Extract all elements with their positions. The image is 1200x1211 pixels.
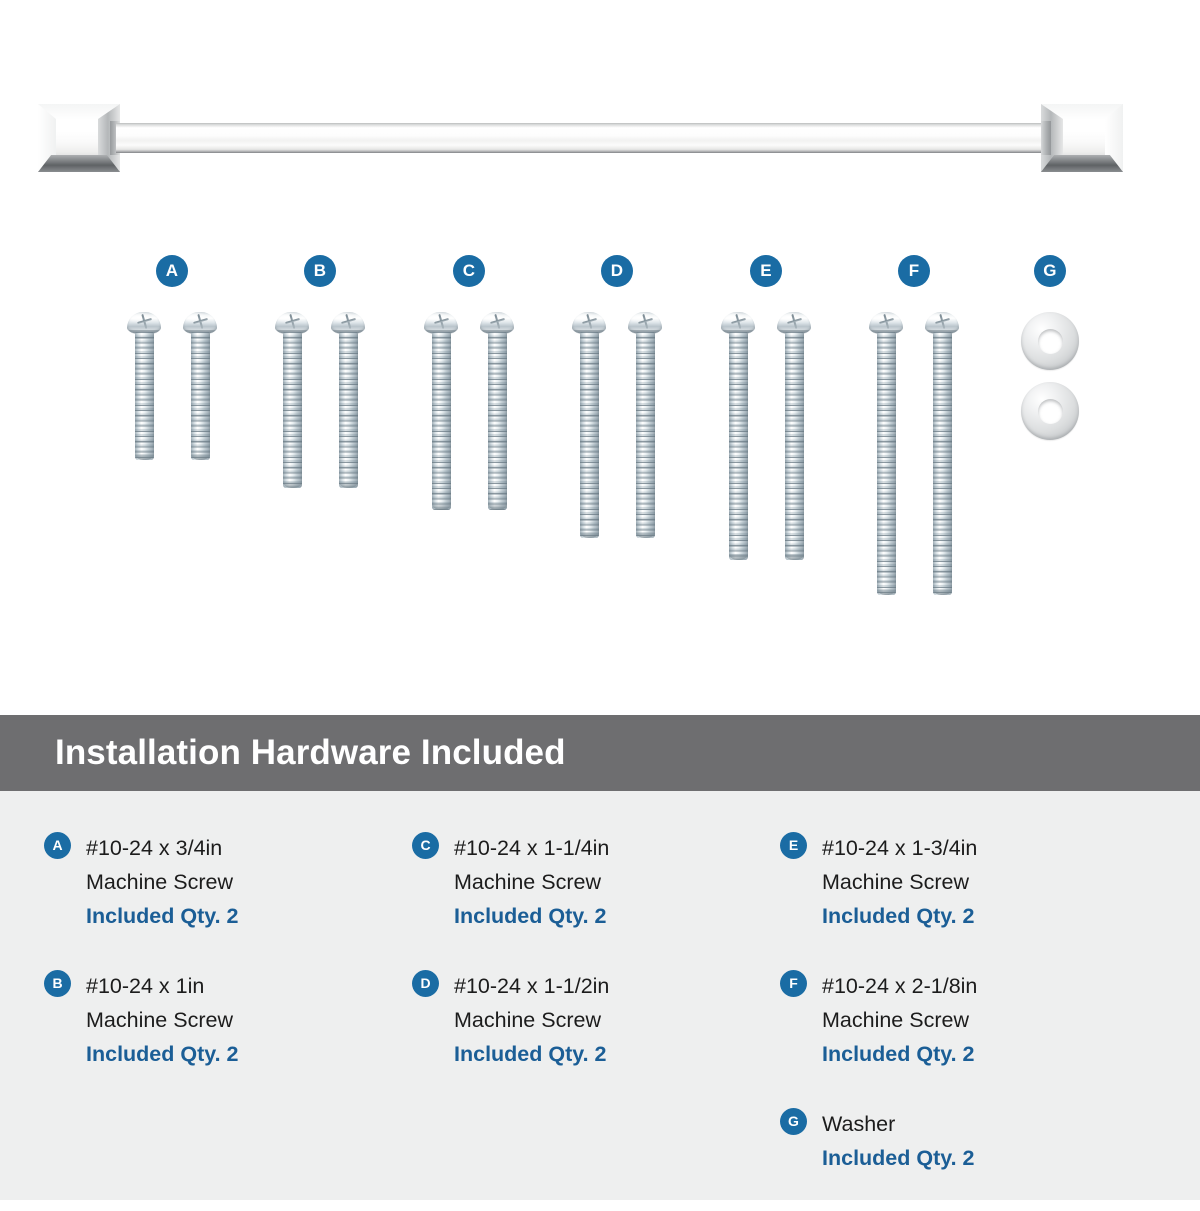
phillips-drive-icon — [931, 311, 952, 332]
washer-1 — [1021, 312, 1079, 370]
towel-bar-rail — [116, 123, 1061, 153]
legend-column-2: C #10-24 x 1-1/4in Machine Screw Include… — [412, 831, 782, 1107]
screw-f-2 — [925, 312, 959, 595]
legend-item-e: E #10-24 x 1-3/4in Machine Screw Include… — [780, 831, 1150, 933]
legend-type: Machine Screw — [86, 1003, 414, 1037]
washer-hole — [1038, 329, 1063, 354]
towel-bar-product — [38, 104, 1123, 172]
threaded-shaft — [432, 332, 451, 510]
screw-pair-e — [691, 312, 841, 560]
legend-column-3: E #10-24 x 1-3/4in Machine Screw Include… — [780, 831, 1150, 1211]
screw-c-2 — [480, 312, 514, 510]
phillips-drive-icon — [189, 311, 210, 332]
hardware-callout-row: A B — [0, 255, 1200, 675]
screw-b-1 — [275, 312, 309, 488]
screw-b-2 — [331, 312, 365, 488]
screw-e-1 — [721, 312, 755, 560]
legend-spec: #10-24 x 2-1/8in — [822, 969, 1150, 1003]
truss-head — [424, 312, 458, 334]
product-illustration-area: A B — [0, 0, 1200, 715]
legend-spec: Washer — [822, 1107, 1150, 1141]
truss-head — [777, 312, 811, 334]
screw-pair-f — [839, 312, 989, 595]
callout-badge-c: C — [453, 255, 485, 287]
screw-e-2 — [777, 312, 811, 560]
washer-pair-g — [1021, 312, 1079, 440]
phillips-drive-icon — [783, 311, 804, 332]
truss-head — [628, 312, 662, 334]
towel-bar-right-bracket — [1041, 104, 1123, 172]
threaded-shaft — [191, 332, 210, 460]
threaded-shaft — [729, 332, 748, 560]
phillips-drive-icon — [486, 311, 507, 332]
legend-badge-b: B — [44, 970, 71, 997]
legend-item-a: A #10-24 x 3/4in Machine Screw Included … — [44, 831, 414, 933]
legend-qty: Included Qty. 2 — [86, 1037, 414, 1071]
legend-qty: Included Qty. 2 — [822, 1141, 1150, 1175]
legend-column-1: A #10-24 x 3/4in Machine Screw Included … — [44, 831, 414, 1107]
callout-badge-d: D — [601, 255, 633, 287]
truss-head — [925, 312, 959, 334]
phillips-drive-icon — [578, 311, 599, 332]
legend-spec: #10-24 x 1-1/2in — [454, 969, 782, 1003]
phillips-drive-icon — [281, 311, 302, 332]
threaded-shaft — [135, 332, 154, 460]
threaded-shaft — [488, 332, 507, 510]
washer-2 — [1021, 382, 1079, 440]
legend-badge-d: D — [412, 970, 439, 997]
legend-qty: Included Qty. 2 — [86, 899, 414, 933]
screw-pair-b — [245, 312, 395, 488]
legend-item-c: C #10-24 x 1-1/4in Machine Screw Include… — [412, 831, 782, 933]
legend-type: Machine Screw — [822, 865, 1150, 899]
phillips-drive-icon — [133, 311, 154, 332]
threaded-shaft — [933, 332, 952, 595]
screw-a-1 — [127, 312, 161, 460]
screw-a-2 — [183, 312, 217, 460]
callout-badge-g: G — [1034, 255, 1066, 287]
truss-head — [127, 312, 161, 334]
truss-head — [331, 312, 365, 334]
threaded-shaft — [877, 332, 896, 595]
legend-type: Machine Screw — [86, 865, 414, 899]
legend-badge-g: G — [780, 1108, 807, 1135]
bracket-bottom-bevel — [38, 155, 120, 172]
threaded-shaft — [580, 332, 599, 538]
legend-badge-a: A — [44, 832, 71, 859]
bracket-post-shadow — [1041, 121, 1051, 155]
legend-qty: Included Qty. 2 — [822, 899, 1150, 933]
callout-badge-f: F — [898, 255, 930, 287]
screw-pair-c — [394, 312, 544, 510]
bracket-bottom-bevel — [1041, 155, 1123, 172]
washer-hole — [1038, 399, 1063, 424]
truss-head — [480, 312, 514, 334]
legend-spec: #10-24 x 1in — [86, 969, 414, 1003]
legend-type: Machine Screw — [822, 1003, 1150, 1037]
screw-pair-a — [97, 312, 247, 460]
screw-d-2 — [628, 312, 662, 538]
legend-item-g: G Washer Included Qty. 2 — [780, 1107, 1150, 1175]
truss-head — [183, 312, 217, 334]
truss-head — [869, 312, 903, 334]
legend-badge-f: F — [780, 970, 807, 997]
legend-badge-c: C — [412, 832, 439, 859]
hardware-legend-panel: A #10-24 x 3/4in Machine Screw Included … — [0, 791, 1200, 1200]
legend-spec: #10-24 x 1-1/4in — [454, 831, 782, 865]
threaded-shaft — [785, 332, 804, 560]
legend-type: Machine Screw — [454, 1003, 782, 1037]
legend-spec: #10-24 x 1-3/4in — [822, 831, 1150, 865]
screw-d-1 — [572, 312, 606, 538]
screw-c-1 — [424, 312, 458, 510]
truss-head — [572, 312, 606, 334]
callout-badge-e: E — [750, 255, 782, 287]
legend-qty: Included Qty. 2 — [454, 1037, 782, 1071]
towel-bar-left-bracket — [38, 104, 120, 172]
screw-f-1 — [869, 312, 903, 595]
truss-head — [721, 312, 755, 334]
threaded-shaft — [339, 332, 358, 488]
threaded-shaft — [283, 332, 302, 488]
legend-item-d: D #10-24 x 1-1/2in Machine Screw Include… — [412, 969, 782, 1071]
legend-type: Machine Screw — [454, 865, 782, 899]
screw-pair-d — [542, 312, 692, 538]
threaded-shaft — [636, 332, 655, 538]
truss-head — [275, 312, 309, 334]
legend-badge-e: E — [780, 832, 807, 859]
legend-item-f: F #10-24 x 2-1/8in Machine Screw Include… — [780, 969, 1150, 1071]
callout-badge-b: B — [304, 255, 336, 287]
legend-spec: #10-24 x 3/4in — [86, 831, 414, 865]
legend-item-b: B #10-24 x 1in Machine Screw Included Qt… — [44, 969, 414, 1071]
phillips-drive-icon — [430, 311, 451, 332]
phillips-drive-icon — [337, 311, 358, 332]
page-title: Installation Hardware Included — [0, 733, 566, 773]
legend-qty: Included Qty. 2 — [454, 899, 782, 933]
phillips-drive-icon — [634, 311, 655, 332]
legend-qty: Included Qty. 2 — [822, 1037, 1150, 1071]
phillips-drive-icon — [875, 311, 896, 332]
section-header-band: Installation Hardware Included — [0, 715, 1200, 791]
callout-badge-a: A — [156, 255, 188, 287]
phillips-drive-icon — [727, 311, 748, 332]
